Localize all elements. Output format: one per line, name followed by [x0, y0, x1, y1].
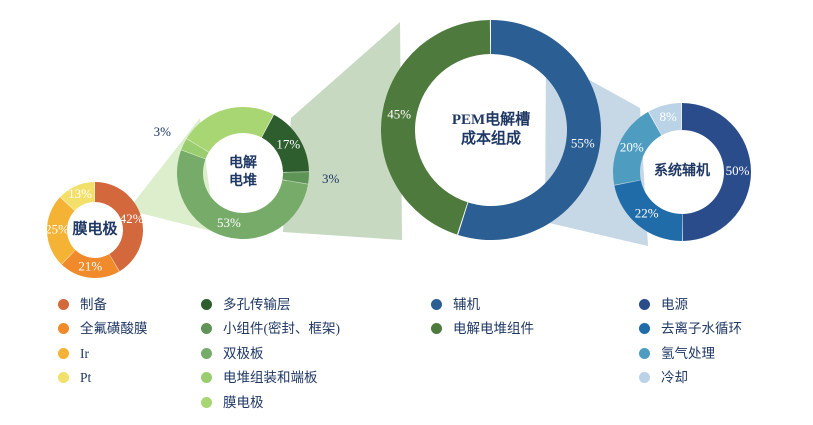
legend-item-label: 去离子水循环 [661, 322, 742, 336]
segment-percent-label-mea-3: 13% [68, 186, 92, 201]
legend-item-label: 膜电极 [223, 396, 264, 410]
donut-center-title-mea: 膜电极 [72, 219, 118, 237]
segment-percent-label-bop-1: 22% [635, 206, 659, 221]
legend-item[interactable]: 多孔传输层 [201, 292, 431, 317]
legend-swatch-icon [639, 348, 650, 359]
legend-item-label: 电堆组装和端板 [223, 371, 318, 385]
legend-item-label: 冷却 [661, 371, 688, 385]
legend-item[interactable]: 氢气处理 [639, 341, 813, 366]
segment-percent-label-bop-0: 50% [726, 163, 750, 178]
legend-column-bop-legend: 电源去离子水循环氢气处理冷却 [639, 292, 813, 390]
legend-item-label: 全氟磺酸膜 [80, 322, 148, 336]
legend-item[interactable]: 膜电极 [201, 390, 431, 415]
legend-item[interactable]: 电堆组装和端板 [201, 366, 431, 391]
legend-item-label: Ir [80, 347, 89, 361]
donut-center-title-pem: 成本组成 [461, 129, 521, 147]
donut-mea: 42%21%25%13%膜电极 [45, 182, 144, 278]
legend-swatch-icon [58, 348, 69, 359]
segment-percent-label-mea-0: 42% [120, 211, 144, 226]
donut-center-title-bop: 系统辅机 [654, 162, 710, 179]
legend-swatch-icon [201, 348, 212, 359]
legend-item[interactable]: 去离子水循环 [639, 317, 813, 342]
donut-pem: 55%45%PEM电解槽成本组成 [381, 20, 601, 240]
legend-item[interactable]: 电解电堆组件 [431, 317, 639, 342]
legend-swatch-icon [639, 323, 650, 334]
legend-swatch-icon [431, 299, 442, 310]
chart-legend: 制备全氟磺酸膜IrPt多孔传输层小组件(密封、框架)双极板电堆组装和端板膜电极辅… [58, 292, 813, 417]
donut-center-title-stack: 电堆 [229, 172, 257, 189]
segment-percent-label-stack-2: 53% [217, 215, 241, 230]
legend-item[interactable]: Pt [58, 366, 201, 391]
segment-percent-label-stack-0: 17% [276, 136, 300, 151]
legend-swatch-icon [639, 372, 650, 383]
legend-item-label: 辅机 [453, 298, 480, 312]
legend-item[interactable]: 电源 [639, 292, 813, 317]
legend-item-label: Pt [80, 371, 91, 385]
segment-percent-label-pem-1: 45% [387, 106, 411, 121]
legend-item-label: 电源 [661, 298, 688, 312]
legend-swatch-icon [201, 372, 212, 383]
legend-swatch-icon [58, 323, 69, 334]
legend-item[interactable]: 冷却 [639, 366, 813, 391]
segment-percent-label-bop-2: 20% [620, 139, 644, 154]
legend-swatch-icon [639, 299, 650, 310]
legend-item-label: 双极板 [223, 347, 264, 361]
donut-center-title-pem: PEM电解槽 [452, 110, 530, 128]
donut-segment-stack-4[interactable] [187, 107, 274, 152]
legend-swatch-icon [431, 323, 442, 334]
legend-column-pem-legend: 辅机电解电堆组件 [431, 292, 639, 341]
legend-item[interactable]: 制备 [58, 292, 201, 317]
legend-item[interactable]: Ir [58, 341, 201, 366]
legend-item-label: 制备 [80, 298, 107, 312]
donut-bop: 50%22%20%8%系统辅机 [613, 103, 751, 241]
legend-item-label: 多孔传输层 [223, 298, 291, 312]
legend-item[interactable]: 辅机 [431, 292, 639, 317]
legend-item-label: 电解电堆组件 [453, 322, 534, 336]
legend-item[interactable]: 小组件(密封、框架) [201, 317, 431, 342]
segment-percent-label-stack-3: 3% [154, 124, 172, 139]
legend-column-stack-legend: 多孔传输层小组件(密封、框架)双极板电堆组装和端板膜电极 [201, 292, 431, 415]
segment-percent-label-bop-3: 8% [660, 109, 678, 124]
legend-column-mea-legend: 制备全氟磺酸膜IrPt [58, 292, 201, 390]
legend-swatch-icon [201, 397, 212, 408]
segment-percent-label-pem-0: 55% [571, 136, 595, 151]
legend-swatch-icon [201, 299, 212, 310]
legend-item[interactable]: 双极板 [201, 341, 431, 366]
donut-center-title-stack: 电解 [229, 154, 257, 171]
legend-item[interactable]: 全氟磺酸膜 [58, 317, 201, 342]
legend-swatch-icon [58, 372, 69, 383]
legend-swatch-icon [201, 323, 212, 334]
segment-percent-label-stack-1: 3% [322, 171, 340, 186]
legend-item-label: 小组件(密封、框架) [223, 322, 340, 336]
legend-swatch-icon [58, 299, 69, 310]
segment-percent-label-mea-2: 25% [45, 222, 69, 237]
segment-percent-label-mea-1: 21% [78, 259, 102, 274]
legend-item-label: 氢气处理 [661, 347, 715, 361]
